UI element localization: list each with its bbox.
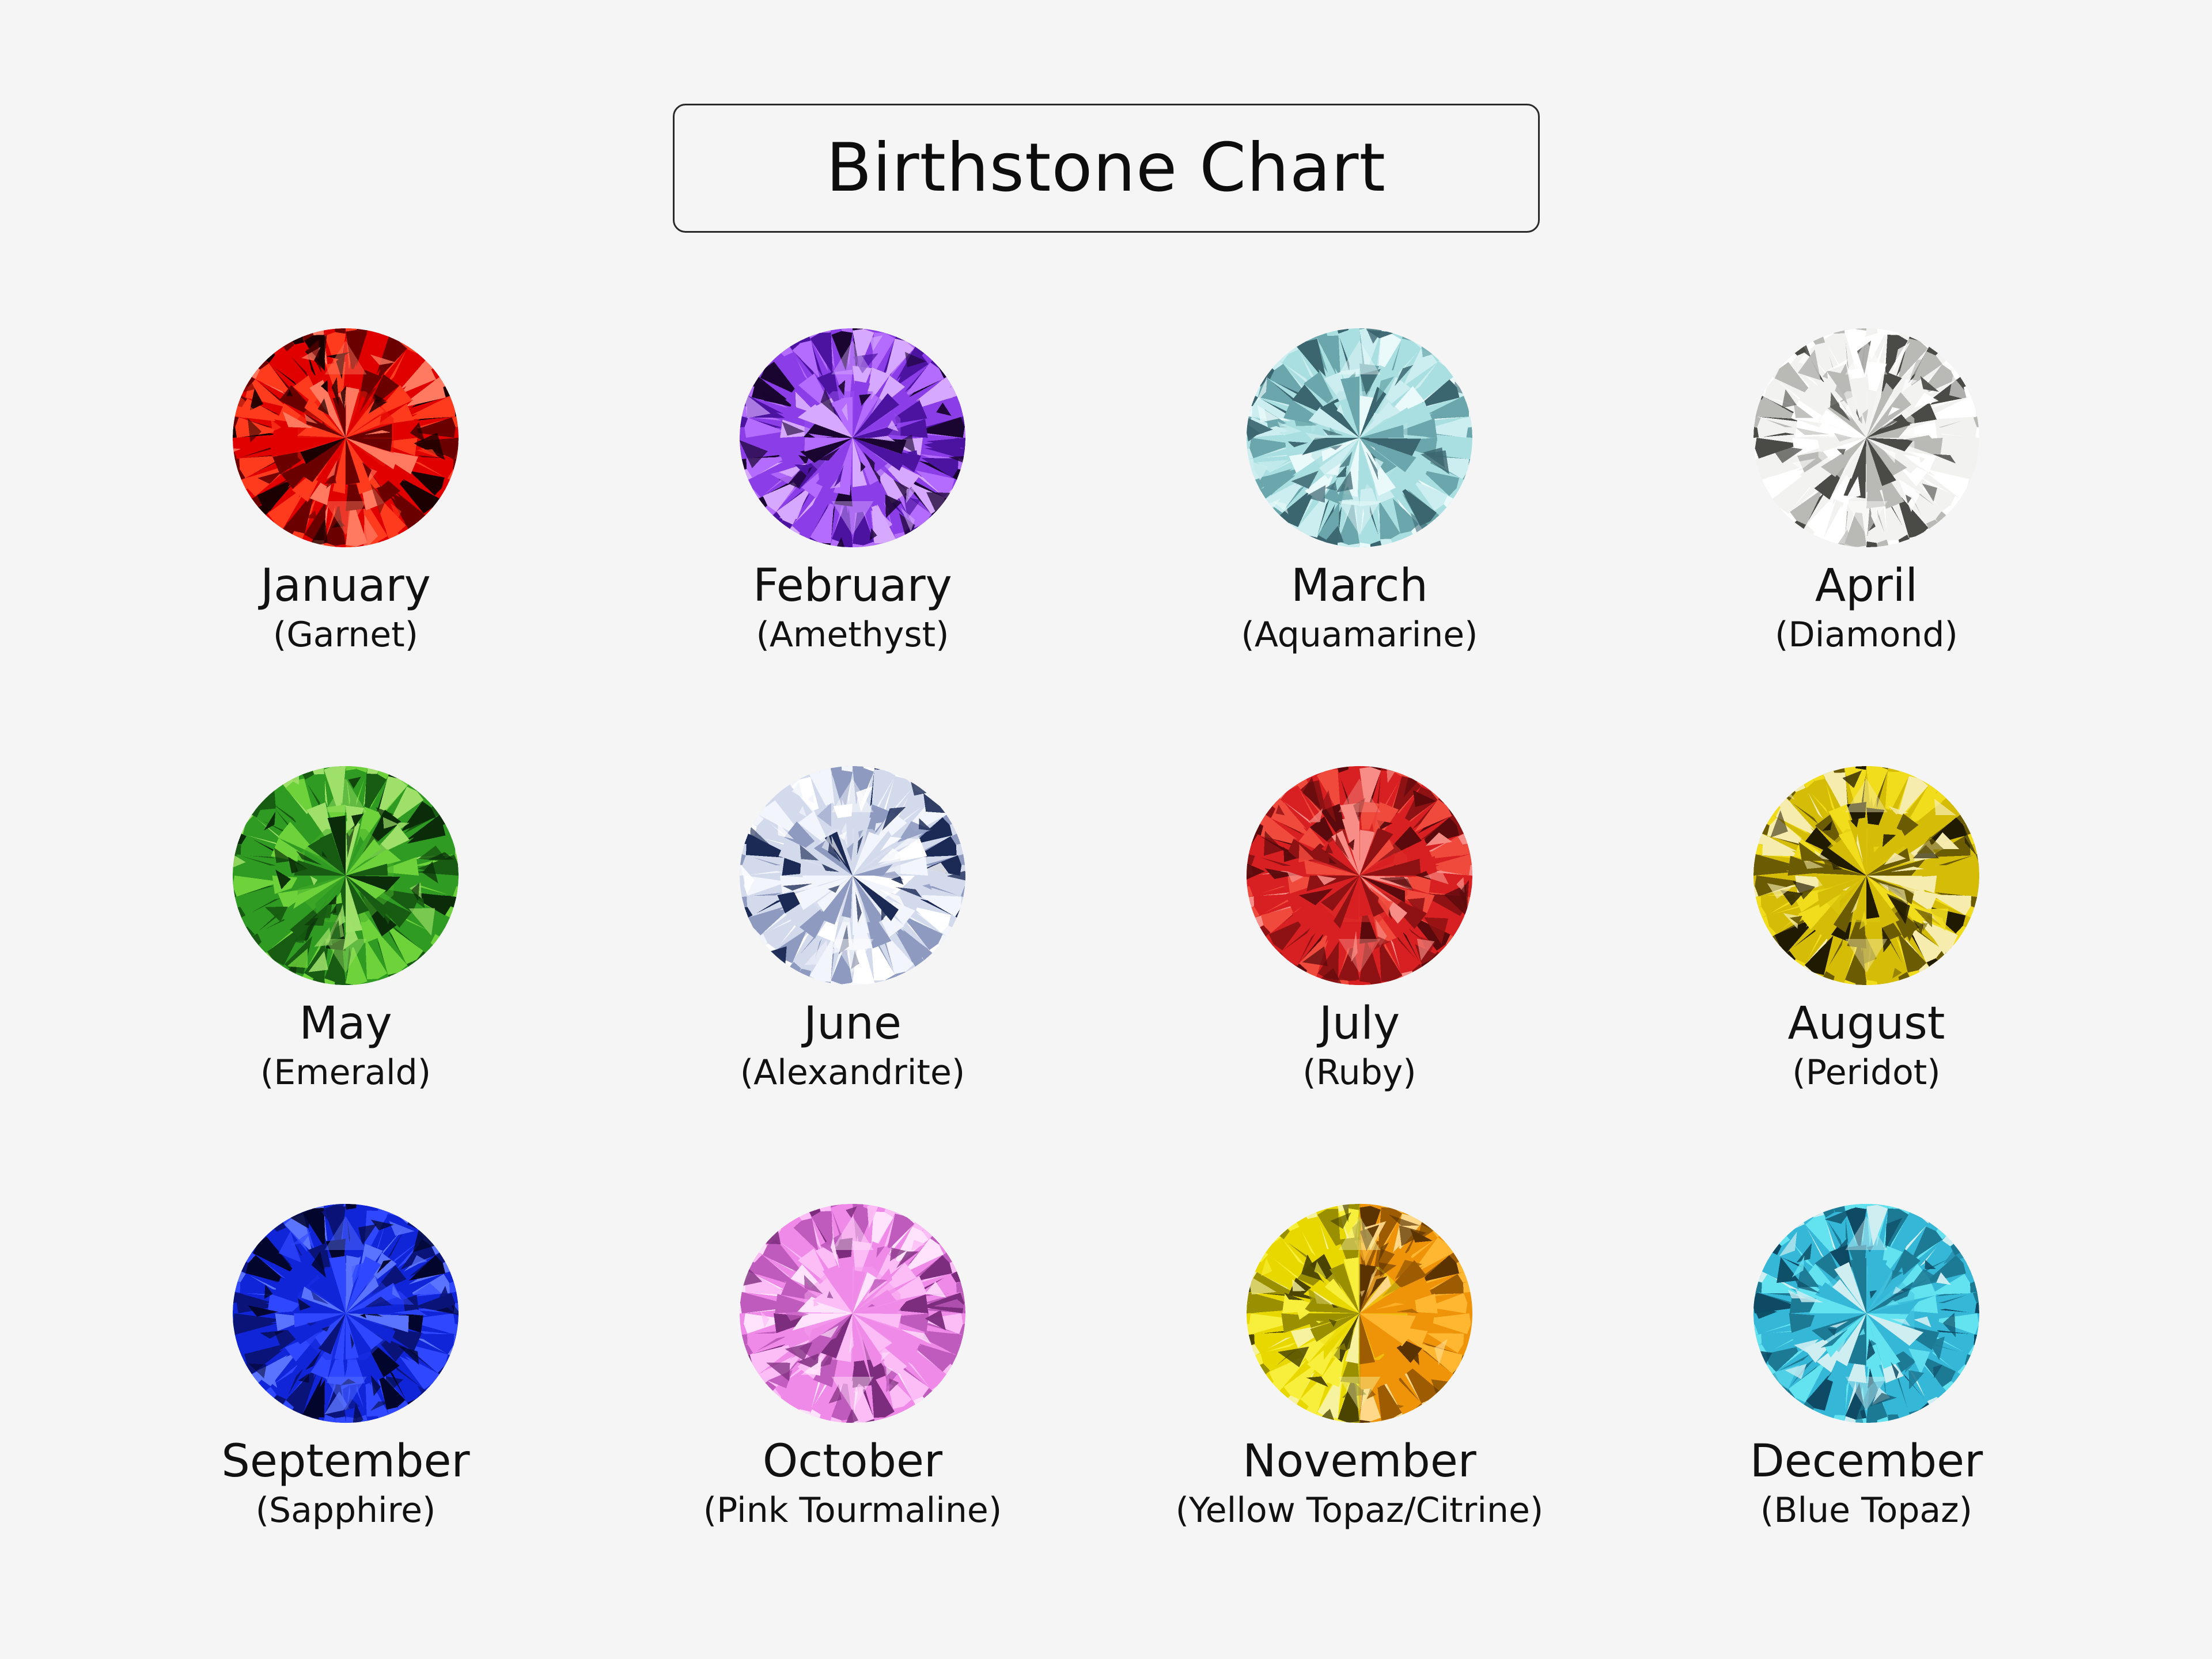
round-brilliant-gem-icon xyxy=(230,323,461,553)
month-label: November xyxy=(1243,1439,1476,1484)
round-brilliant-gem-icon xyxy=(1751,760,1982,991)
stone-name-label: (Sapphire) xyxy=(256,1493,436,1528)
month-label: June xyxy=(804,1001,902,1046)
round-brilliant-gem-icon xyxy=(1244,760,1475,991)
month-label: February xyxy=(753,563,952,608)
birthstone-cell-june[interactable]: June(Alexandrite) xyxy=(599,760,1106,1198)
birthstone-cell-september[interactable]: September(Sapphire) xyxy=(92,1198,599,1636)
month-label: April xyxy=(1815,563,1918,608)
month-label: January xyxy=(260,563,431,608)
stone-name-label: (Emerald) xyxy=(260,1055,431,1090)
birthstone-cell-august[interactable]: August(Peridot) xyxy=(1613,760,2120,1198)
birthstone-cell-december[interactable]: December(Blue Topaz) xyxy=(1613,1198,2120,1636)
birthstone-cell-july[interactable]: July(Ruby) xyxy=(1106,760,1613,1198)
stone-name-label: (Yellow Topaz/Citrine) xyxy=(1176,1493,1544,1528)
round-brilliant-gem-icon xyxy=(737,760,968,991)
stone-name-label: (Blue Topaz) xyxy=(1760,1493,1972,1528)
month-label: September xyxy=(221,1439,469,1484)
round-brilliant-gem-icon xyxy=(737,1198,968,1429)
round-brilliant-gem-icon xyxy=(230,1198,461,1429)
birthstone-cell-november[interactable]: November(Yellow Topaz/Citrine) xyxy=(1106,1198,1613,1636)
month-label: October xyxy=(763,1439,942,1484)
stone-name-label: (Alexandrite) xyxy=(740,1055,965,1090)
birthstone-cell-april[interactable]: April(Diamond) xyxy=(1613,323,2120,760)
round-brilliant-gem-icon xyxy=(1244,1198,1475,1429)
round-brilliant-gem-icon xyxy=(230,760,461,991)
stone-name-label: (Peridot) xyxy=(1792,1055,1940,1090)
month-label: December xyxy=(1750,1439,1983,1484)
stone-name-label: (Ruby) xyxy=(1302,1055,1416,1090)
stone-name-label: (Amethyst) xyxy=(756,618,949,652)
round-brilliant-gem-icon xyxy=(1751,323,1982,553)
birthstone-cell-march[interactable]: March(Aquamarine) xyxy=(1106,323,1613,760)
month-label: August xyxy=(1788,1001,1945,1046)
birthstone-cell-may[interactable]: May(Emerald) xyxy=(92,760,599,1198)
stone-name-label: (Garnet) xyxy=(273,618,418,652)
month-label: July xyxy=(1319,1001,1400,1046)
round-brilliant-gem-icon xyxy=(737,323,968,553)
birthstone-cell-january[interactable]: January(Garnet) xyxy=(92,323,599,760)
stone-name-label: (Pink Tourmaline) xyxy=(703,1493,1002,1528)
month-label: May xyxy=(299,1001,392,1046)
round-brilliant-gem-icon xyxy=(1751,1198,1982,1429)
birthstone-cell-february[interactable]: February(Amethyst) xyxy=(599,323,1106,760)
page-title-container: Birthstone Chart xyxy=(0,104,2212,233)
birthstone-grid: January(Garnet)February(Amethyst)March(A… xyxy=(92,323,2120,1636)
stone-name-label: (Aquamarine) xyxy=(1241,618,1478,652)
title-box: Birthstone Chart xyxy=(673,104,1540,233)
stone-name-label: (Diamond) xyxy=(1775,618,1958,652)
page-title: Birthstone Chart xyxy=(826,135,1386,202)
round-brilliant-gem-icon xyxy=(1244,323,1475,553)
month-label: March xyxy=(1291,563,1428,608)
birthstone-cell-october[interactable]: October(Pink Tourmaline) xyxy=(599,1198,1106,1636)
